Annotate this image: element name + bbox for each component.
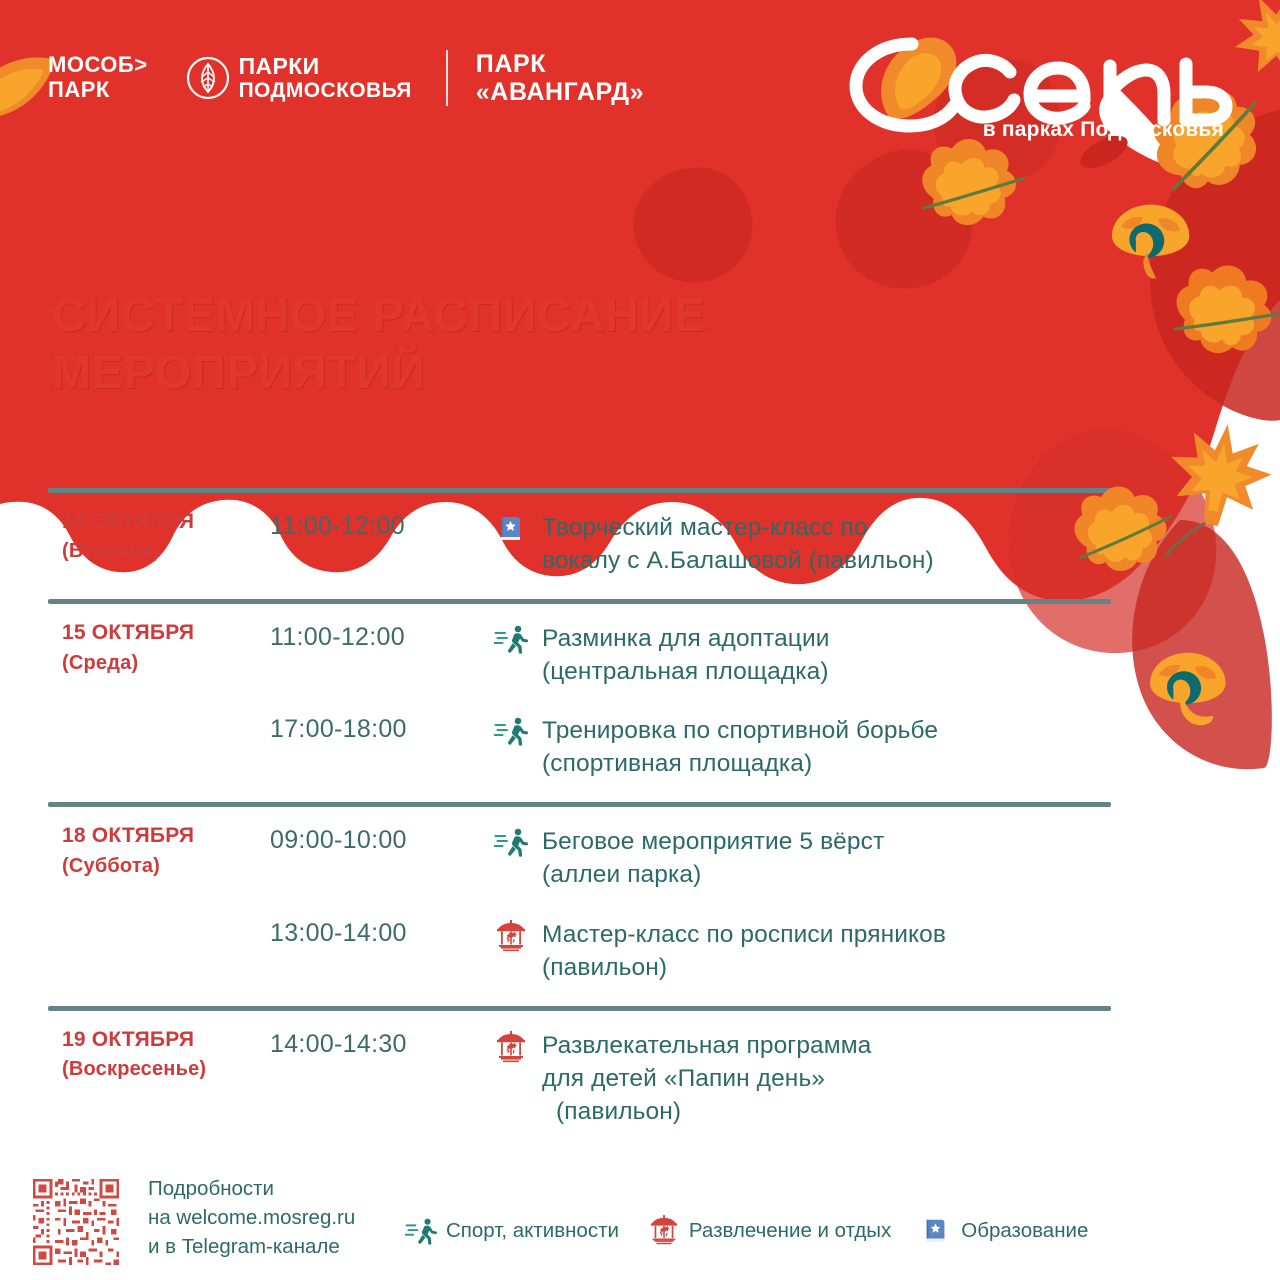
entertainment-carousel-icon	[480, 1029, 542, 1065]
legend-label: Образование	[961, 1219, 1088, 1243]
schedule-date-cell: 18 ОКТЯБРЯ (Суббота)	[48, 821, 270, 989]
mushroom-decor-1	[1112, 205, 1189, 279]
schedule-events-cell: 11:00-12:00	[270, 618, 1111, 786]
details-line1: Подробности	[148, 1174, 355, 1203]
parki-line2: ПОДМОСКОВЬЯ	[239, 79, 412, 102]
legend-label: Спорт, активности	[446, 1219, 619, 1243]
event-line2: (центральная площадка)	[542, 655, 1111, 688]
schedule-date: 18 ОКТЯБРЯ	[62, 824, 194, 847]
event-line2: (аллеи парка)	[542, 858, 1111, 891]
event-line1: Беговое мероприятие 5 вёрст	[542, 828, 884, 855]
schedule-weekday: (Суббота)	[62, 852, 270, 881]
mosobl-line1: МОСОБ>	[48, 52, 148, 77]
schedule-weekday: (Среда)	[62, 649, 270, 678]
schedule-day-group: 14 ОКТЯБРЯ (Вторник) 11:00-12:00	[48, 493, 1111, 599]
header-blob-dark-2	[836, 149, 973, 288]
poster-root: МОСОБ> ПАРК ПАРКИ ПОДМОСКОВЬЯ ПАРК «АВ	[0, 0, 1280, 1280]
event-line2: вокалу с А.Балашовой (павильон)	[542, 544, 1111, 577]
parki-line1: ПАРКИ	[239, 53, 320, 79]
event-description: Развлекательная программа для детей «Пап…	[542, 1029, 1111, 1128]
oak-leaf-3	[1162, 249, 1280, 372]
legend-label: Развлечение и отдых	[689, 1219, 891, 1243]
event-line1: Разминка для адоптации	[542, 625, 830, 652]
sport-runner-icon	[480, 714, 542, 746]
event-description: Мастер-класс по росписи пряников (павиль…	[542, 918, 1111, 984]
event-description: Разминка для адоптации (центральная площ…	[542, 622, 1111, 688]
event-time: 11:00-12:00	[270, 622, 480, 653]
event-description: Творческий мастер-класс по вокалу с А.Ба…	[542, 511, 1111, 577]
event-time: 13:00-14:00	[270, 918, 480, 949]
schedule-events-cell: 09:00-10:00	[270, 821, 1111, 989]
event-description: Тренировка по спортивной борьбе (спортив…	[542, 714, 1111, 780]
page-title: СИСТЕМНОЕ РАСПИСАНИЕ МЕРОПРИЯТИЙ	[52, 286, 892, 401]
qr-code[interactable]	[28, 1176, 124, 1268]
brand-row: МОСОБ> ПАРК ПАРКИ ПОДМОСКОВЬЯ ПАРК «АВ	[48, 50, 644, 106]
osen-logo-subtitle: в парках Подмосковья	[983, 118, 1224, 142]
schedule-day-group: 18 ОКТЯБРЯ (Суббота) 09:00-10:00	[48, 807, 1111, 1005]
education-book-icon	[480, 511, 542, 545]
page-title-line2: МЕРОПРИЯТИЙ	[52, 343, 892, 400]
schedule-event-row: 11:00-12:00 Творческий мастер-класс по в…	[270, 507, 1111, 583]
legend: Спорт, активности	[404, 1214, 1116, 1248]
schedule-events-cell: 11:00-12:00 Творческий мастер-класс по в…	[270, 507, 1111, 583]
event-line1: Развлекательная программа	[542, 1032, 871, 1059]
event-time: 14:00-14:30	[270, 1029, 480, 1060]
entertainment-carousel-icon	[647, 1214, 681, 1248]
schedule-weekday: (Воскресенье)	[62, 1055, 270, 1084]
schedule-event-row: 14:00-14:30	[270, 1025, 1111, 1134]
schedule-day-group: 15 ОКТЯБРЯ (Среда) 11:00-12:00	[48, 604, 1111, 802]
details-line2: на welcome.mosreg.ru	[148, 1203, 355, 1232]
details-text: Подробности на welcome.mosreg.ru и в Tel…	[148, 1174, 355, 1261]
maple-leaf-1	[1154, 416, 1279, 572]
schedule-table: 14 ОКТЯБРЯ (Вторник) 11:00-12:00	[48, 488, 1111, 1150]
schedule-date-cell: 14 ОКТЯБРЯ (Вторник)	[48, 507, 270, 583]
event-line2: (павильон)	[542, 951, 1111, 984]
schedule-event-row: 11:00-12:00	[270, 618, 1111, 694]
footer: Подробности на welcome.mosreg.ru и в Tel…	[0, 1158, 1280, 1278]
mosobl-park-logo: МОСОБ> ПАРК	[48, 53, 148, 102]
parki-podmoskovya-logo: ПАРКИ ПОДМОСКОВЬЯ	[186, 54, 412, 102]
event-time: 09:00-10:00	[270, 825, 480, 856]
event-time: 17:00-18:00	[270, 714, 480, 745]
event-time: 11:00-12:00	[270, 511, 480, 542]
mushroom-decor-2	[1150, 653, 1226, 725]
event-line1: Тренировка по спортивной борьбе	[542, 717, 938, 744]
legend-item-sport: Спорт, активности	[404, 1214, 619, 1248]
event-line1: Мастер-класс по росписи пряников	[542, 921, 946, 948]
legend-item-entertainment: Развлечение и отдых	[647, 1214, 891, 1248]
header-blob-dark-6	[1132, 520, 1272, 769]
schedule-weekday: (Вторник)	[62, 537, 270, 566]
mosobl-line2: ПАРК	[48, 78, 148, 103]
park-line1: ПАРК	[476, 50, 546, 78]
legend-item-education: Образование	[919, 1214, 1088, 1248]
schedule-date: 15 ОКТЯБРЯ	[62, 621, 194, 644]
schedule-date-cell: 19 ОКТЯБРЯ (Воскресенье)	[48, 1025, 270, 1134]
park-line2: «АВАНГАРД»	[476, 78, 644, 106]
entertainment-carousel-icon	[480, 918, 542, 954]
schedule-event-row: 09:00-10:00	[270, 821, 1111, 897]
park-name: ПАРК «АВАНГАРД»	[476, 50, 644, 106]
leaf-circle-icon	[186, 56, 230, 100]
header-blob-dark-4	[634, 168, 753, 283]
event-description: Беговое мероприятие 5 вёрст (аллеи парка…	[542, 825, 1111, 891]
event-line2: (спортивная площадка)	[542, 747, 1111, 780]
details-line3: и в Telegram-канале	[148, 1232, 355, 1261]
schedule-date: 14 ОКТЯБРЯ	[62, 510, 194, 533]
event-line2: для детей «Папин день»	[542, 1062, 1111, 1095]
header-divider	[446, 50, 448, 106]
schedule-event-row: 17:00-18:00	[270, 694, 1111, 786]
schedule-date-cell: 15 ОКТЯБРЯ (Среда)	[48, 618, 270, 786]
sport-runner-icon	[404, 1214, 438, 1248]
schedule-day-group: 19 ОКТЯБРЯ (Воскресенье) 14:00-14:30	[48, 1011, 1111, 1150]
event-line1: Творческий мастер-класс по	[542, 514, 868, 541]
event-line3: (павильон)	[542, 1095, 1111, 1128]
parki-text: ПАРКИ ПОДМОСКОВЬЯ	[239, 54, 412, 102]
header-content: МОСОБ> ПАРК ПАРКИ ПОДМОСКОВЬЯ ПАРК «АВ	[0, 0, 1280, 160]
education-book-icon	[919, 1214, 953, 1248]
page-title-line1: СИСТЕМНОЕ РАСПИСАНИЕ	[52, 288, 706, 341]
sport-runner-icon	[480, 825, 542, 857]
schedule-events-cell: 14:00-14:30	[270, 1025, 1111, 1134]
schedule-date: 19 ОКТЯБРЯ	[62, 1028, 194, 1051]
schedule-event-row: 13:00-14:00	[270, 898, 1111, 990]
sport-runner-icon	[480, 622, 542, 654]
